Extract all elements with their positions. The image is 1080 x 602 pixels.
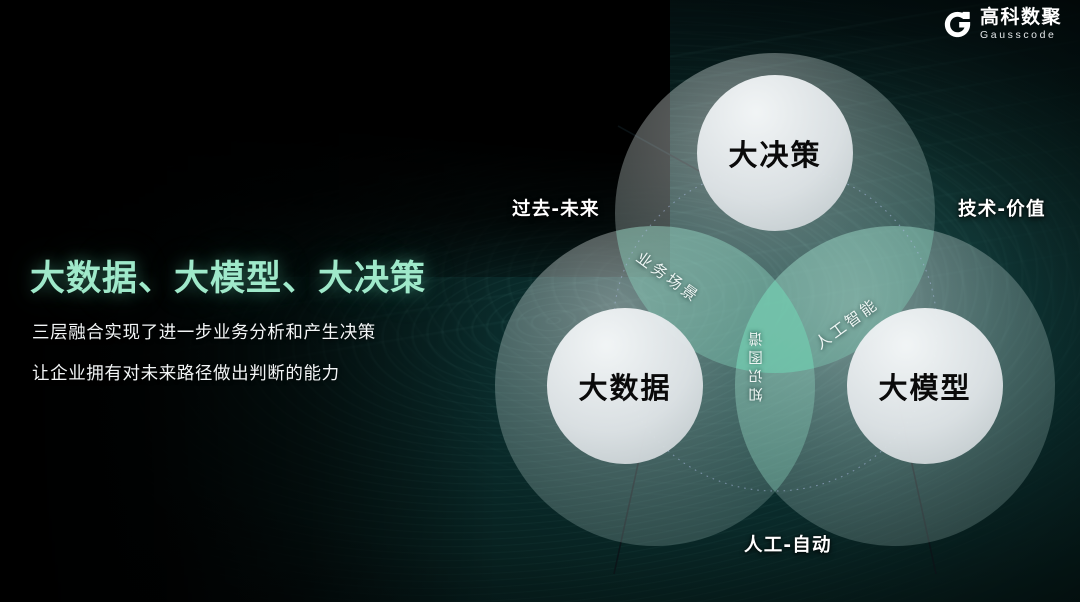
node-circle-bigdata [547,308,703,464]
subtitle-line-2: 让企业拥有对未来路径做出判断的能力 [32,360,426,385]
headline-block: 大数据、大模型、大决策 三层融合实现了进一步业务分析和产生决策 让企业拥有对未来… [30,250,426,385]
brand-logo[interactable]: 高科数聚 Gausscode [944,8,1062,41]
subtitle-line-1: 三层融合实现了进一步业务分析和产生决策 [32,319,426,344]
page-title: 大数据、大模型、大决策 [30,250,426,301]
axis-label-tech-value: 技术-价值 [958,195,1046,221]
brand-name-en: Gausscode [980,30,1062,41]
brand-name-cn: 高科数聚 [980,8,1062,27]
slide-canvas: 高科数聚 Gausscode 大数据、大模型、大决策 三层融合实现了进一步业务分… [0,0,1080,602]
brand-wordmark: 高科数聚 Gausscode [980,8,1062,41]
gausscode-g-logo-icon [944,11,971,38]
node-circle-decision [697,75,853,231]
venn-svg [470,18,1080,602]
node-circle-bigmodel [847,308,1003,464]
axis-label-manual-auto: 人工-自动 [744,531,832,557]
venn-diagram: 大决策 大数据 大模型 业务场景 人工智能 知识图谱 [470,18,1080,602]
axis-label-past-future: 过去-未来 [512,195,600,221]
